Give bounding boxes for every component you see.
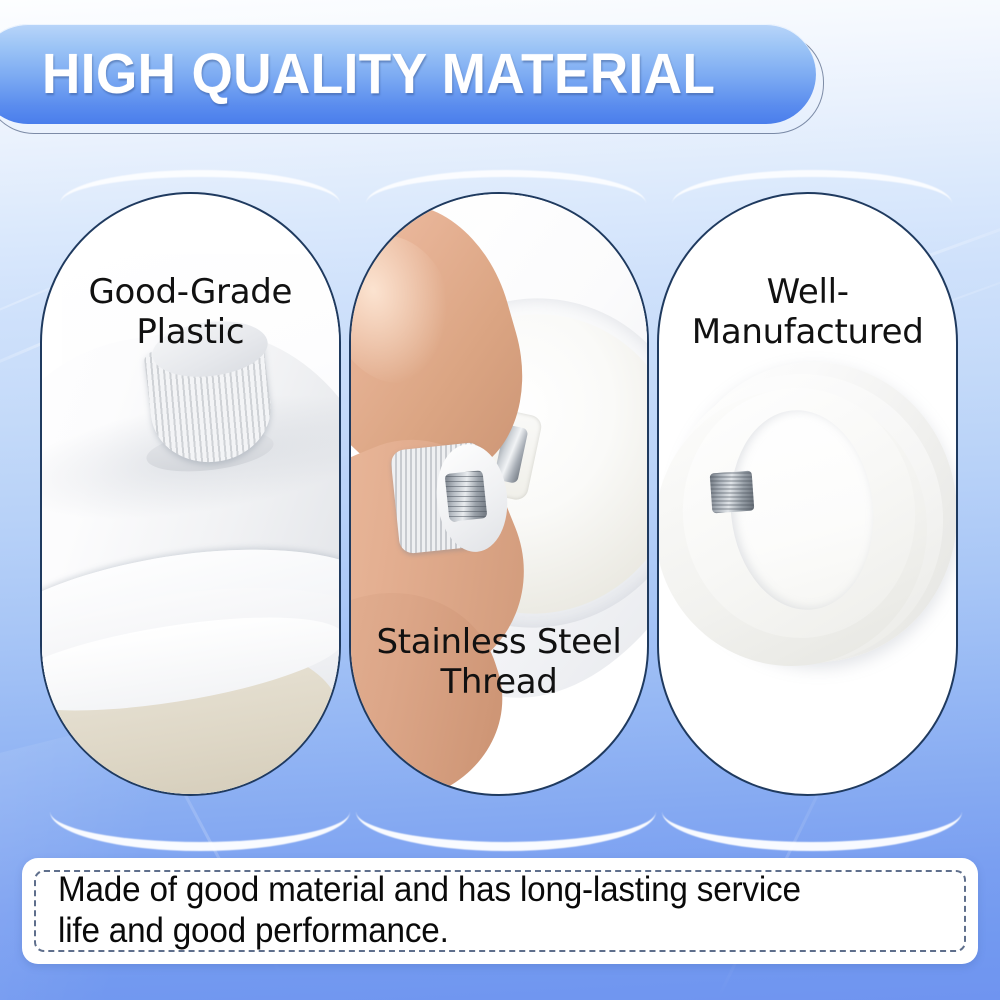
- caption-text: Made of good material and has long-lasti…: [58, 870, 801, 951]
- caption-dashed-border: Made of good material and has long-lasti…: [34, 870, 966, 952]
- metal-thread-grooves: [710, 471, 755, 514]
- product-photo-stainless-steel-thread: [351, 194, 648, 794]
- feature-card-label: Well- Manufactured: [659, 272, 956, 352]
- feature-card-label: Stainless Steel Thread: [351, 622, 648, 702]
- page-title: HIGH QUALITY MATERIAL: [42, 41, 715, 107]
- feature-card-stainless-steel-thread[interactable]: Stainless Steel Thread: [349, 192, 650, 796]
- steel-thread-grooves: [444, 470, 487, 522]
- caption-box: Made of good material and has long-lasti…: [22, 858, 978, 964]
- banner-pill: HIGH QUALITY MATERIAL: [0, 24, 816, 124]
- feature-card-label: Good-Grade Plastic: [42, 272, 339, 352]
- infographic-canvas: HIGH QUALITY MATERIAL Good-Grade Plastic: [0, 0, 1000, 1000]
- feature-card-well-manufactured[interactable]: Well- Manufactured: [657, 192, 958, 796]
- feature-card-good-grade-plastic[interactable]: Good-Grade Plastic: [40, 192, 341, 796]
- feature-card-row: Good-Grade Plastic Stainless Steel Threa…: [40, 192, 958, 796]
- header-banner: HIGH QUALITY MATERIAL: [0, 24, 816, 124]
